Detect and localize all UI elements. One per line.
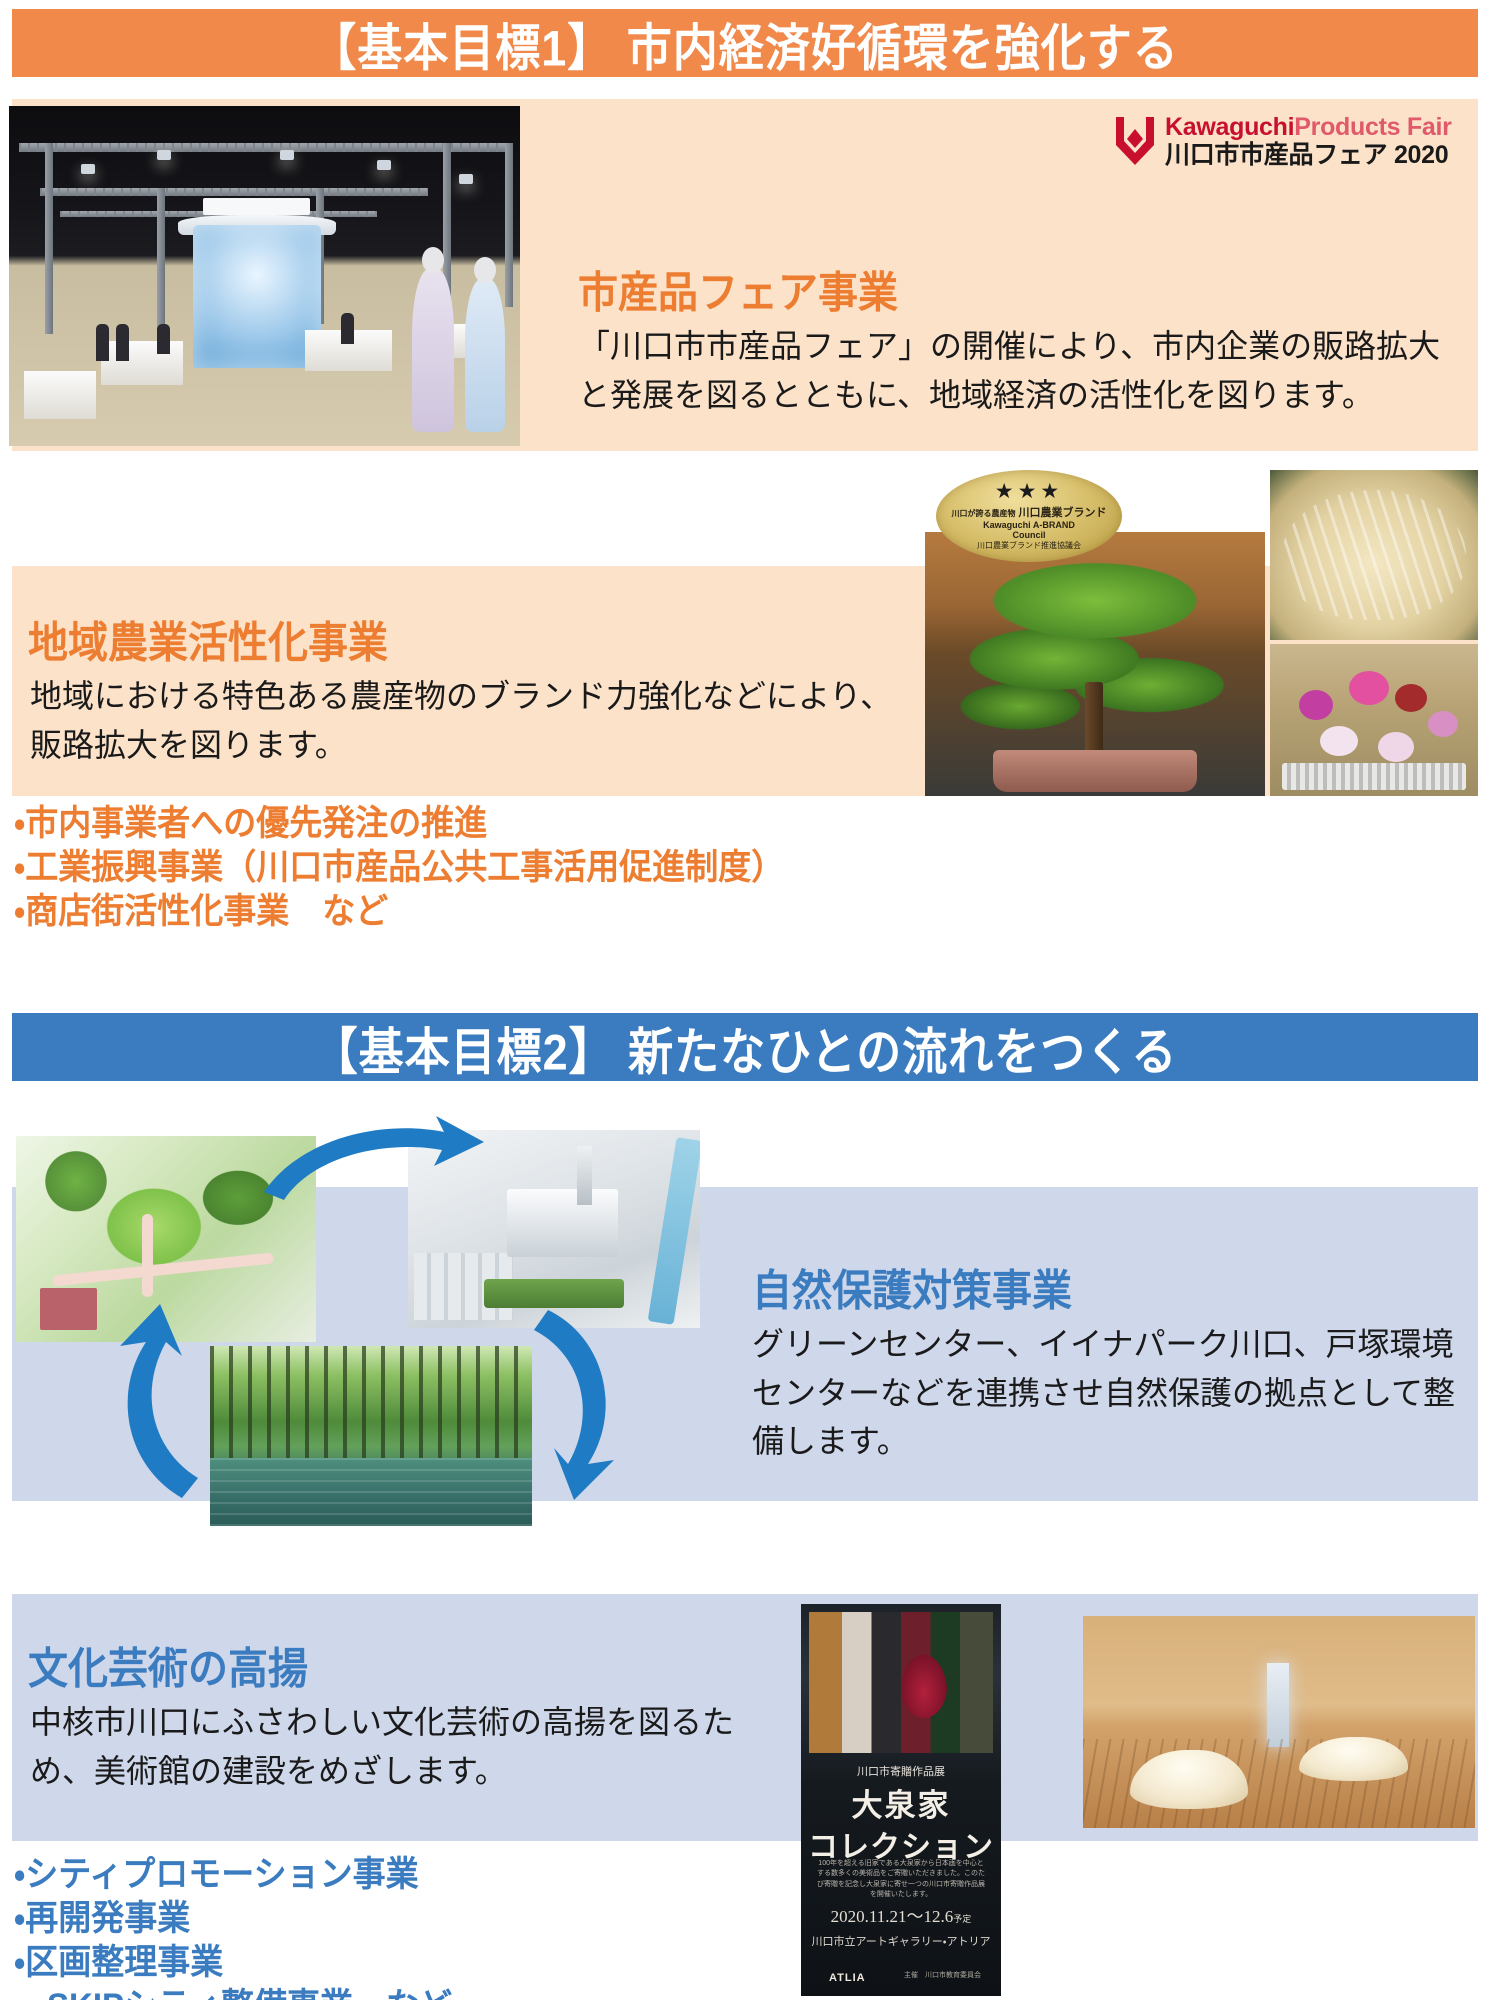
bullet-item: ・市内事業者への優先発注の推進 [14,800,784,847]
cycle-arrow-right-icon [530,1304,640,1504]
logo-brand-text: Kawaguchi [1165,113,1294,141]
goal-1-title: 【基本目標1】 市内経済好循環を強化する [311,7,1179,80]
atlia-logo: ATLIA [829,1972,866,1984]
seal-stars: ★★★ [995,481,1063,502]
poster-title-line1: 大泉家 [801,1780,1001,1825]
poster-date: 2020.11.21〜12.6 [831,1907,954,1926]
bullet-item: ・工業振興事業（川口市産品公共工事活用促進制度） [14,844,784,891]
cycle-arrow-top-icon [258,1114,488,1204]
seal-en-sub: Council [1013,530,1046,540]
forest-pond-photo [210,1346,532,1526]
bullet-item: ・再開発事業 [14,1895,452,1942]
cycle-arrow-left-icon [94,1298,204,1504]
card-body-nature-protection: グリーンセンター、イイナパーク川口、戸塚環境センターなどを連携させ自然保護の拠点… [752,1320,1468,1466]
goal-2-title: 【基本目標2】 新たなひとの流れをつくる [313,1011,1178,1084]
poster-venue: 川口市立アートギャラリー・アトリア [801,1933,1001,1949]
kawaguchi-a-brand-seal: ★★★ 川口が誇る農産物 川口農業ブランド Kawaguchi A-BRAND … [936,470,1122,562]
kawaguchi-products-fair-logo: KawaguchiProducts Fair 川口市市産品フェア 2020 [1113,108,1473,174]
goal-2-bullet-list: ・シティプロモーション事業 ・再開発事業 ・区画整理事業 ・SKIPシティ整備事… [14,1851,452,2000]
agriculture-photo-cluster: ★★★ 川口が誇る農産物 川口農業ブランド Kawaguchi A-BRAND … [925,470,1478,796]
kawaguchi-w-mark-icon [1113,115,1157,167]
bullet-item: ・シティプロモーション事業 [14,1851,452,1898]
document-page: 【基本目標1】 市内経済好循環を強化する KawaguchiProducts F… [0,0,1490,2000]
seal-jp-small: 川口が誇る農産物 [951,509,1015,518]
poster-description: 100年を超える旧家である大泉家から日本画を中心とする数多くの美術品をご寄贈いた… [815,1859,987,1901]
card-body-regional-agriculture: 地域における特色ある農産物のブランド力強化などにより、販路拡大を図ります。 [30,672,910,769]
napa-cabbage-photo [1270,470,1478,640]
logo-japanese-text: 川口市市産品フェア 2020 [1165,143,1452,168]
logo-brand-suffix: Products Fair [1294,113,1451,141]
poster-date-note: 予定 [953,1914,971,1924]
bullet-item: ・区画整理事業 [14,1939,452,1986]
bullet-item: ・SKIPシティ整備事業 など [14,1983,452,2000]
card-body-shisanpin-fair: 「川口市市産品フェア」の開催により、市内企業の販路拡大と発展を図るとともに、地域… [578,322,1464,419]
card-body-culture-arts: 中核市川口にふさわしい文化芸術の高揚を図るため、美術館の建設をめざします。 [30,1698,770,1795]
nature-cycle-diagram [10,1108,710,1528]
bullet-item: ・商店街活性化事業 など [14,888,784,935]
art-gallery-interior-photo [1083,1616,1475,1828]
seal-jp-main: 川口農業ブランド [1019,507,1107,519]
exhibition-hall-photo [9,106,520,446]
goal-2-header-band: 【基本目標2】 新たなひとの流れをつくる [12,1013,1478,1081]
cyclamen-flowers-photo [1270,644,1478,796]
poster-credit: 主催 川口市教育委員会 [904,1970,981,1980]
poster-subtitle: 川口市寄贈作品展 [801,1763,1001,1779]
card-heading-regional-agriculture: 地域農業活性化事業 [28,608,388,671]
card-heading-nature-protection: 自然保護対策事業 [752,1256,1072,1319]
goal-1-header-band: 【基本目標1】 市内経済好循環を強化する [12,9,1478,77]
card-heading-shisanpin-fair: 市産品フェア事業 [578,258,898,321]
card-heading-culture-arts: 文化芸術の高揚 [28,1634,308,1697]
goal-1-bullet-list: ・市内事業者への優先発注の推進 ・工業振興事業（川口市産品公共工事活用促進制度）… [14,800,784,932]
seal-en: Kawaguchi A-BRAND [983,520,1075,530]
seal-jp-footer: 川口農業ブランド推進協議会 [977,540,1081,551]
bonsai-photo [925,532,1265,796]
ohizumi-collection-poster: 川口市寄贈作品展 大泉家 コレクション 100年を超える旧家である大泉家から日本… [801,1604,1001,1996]
